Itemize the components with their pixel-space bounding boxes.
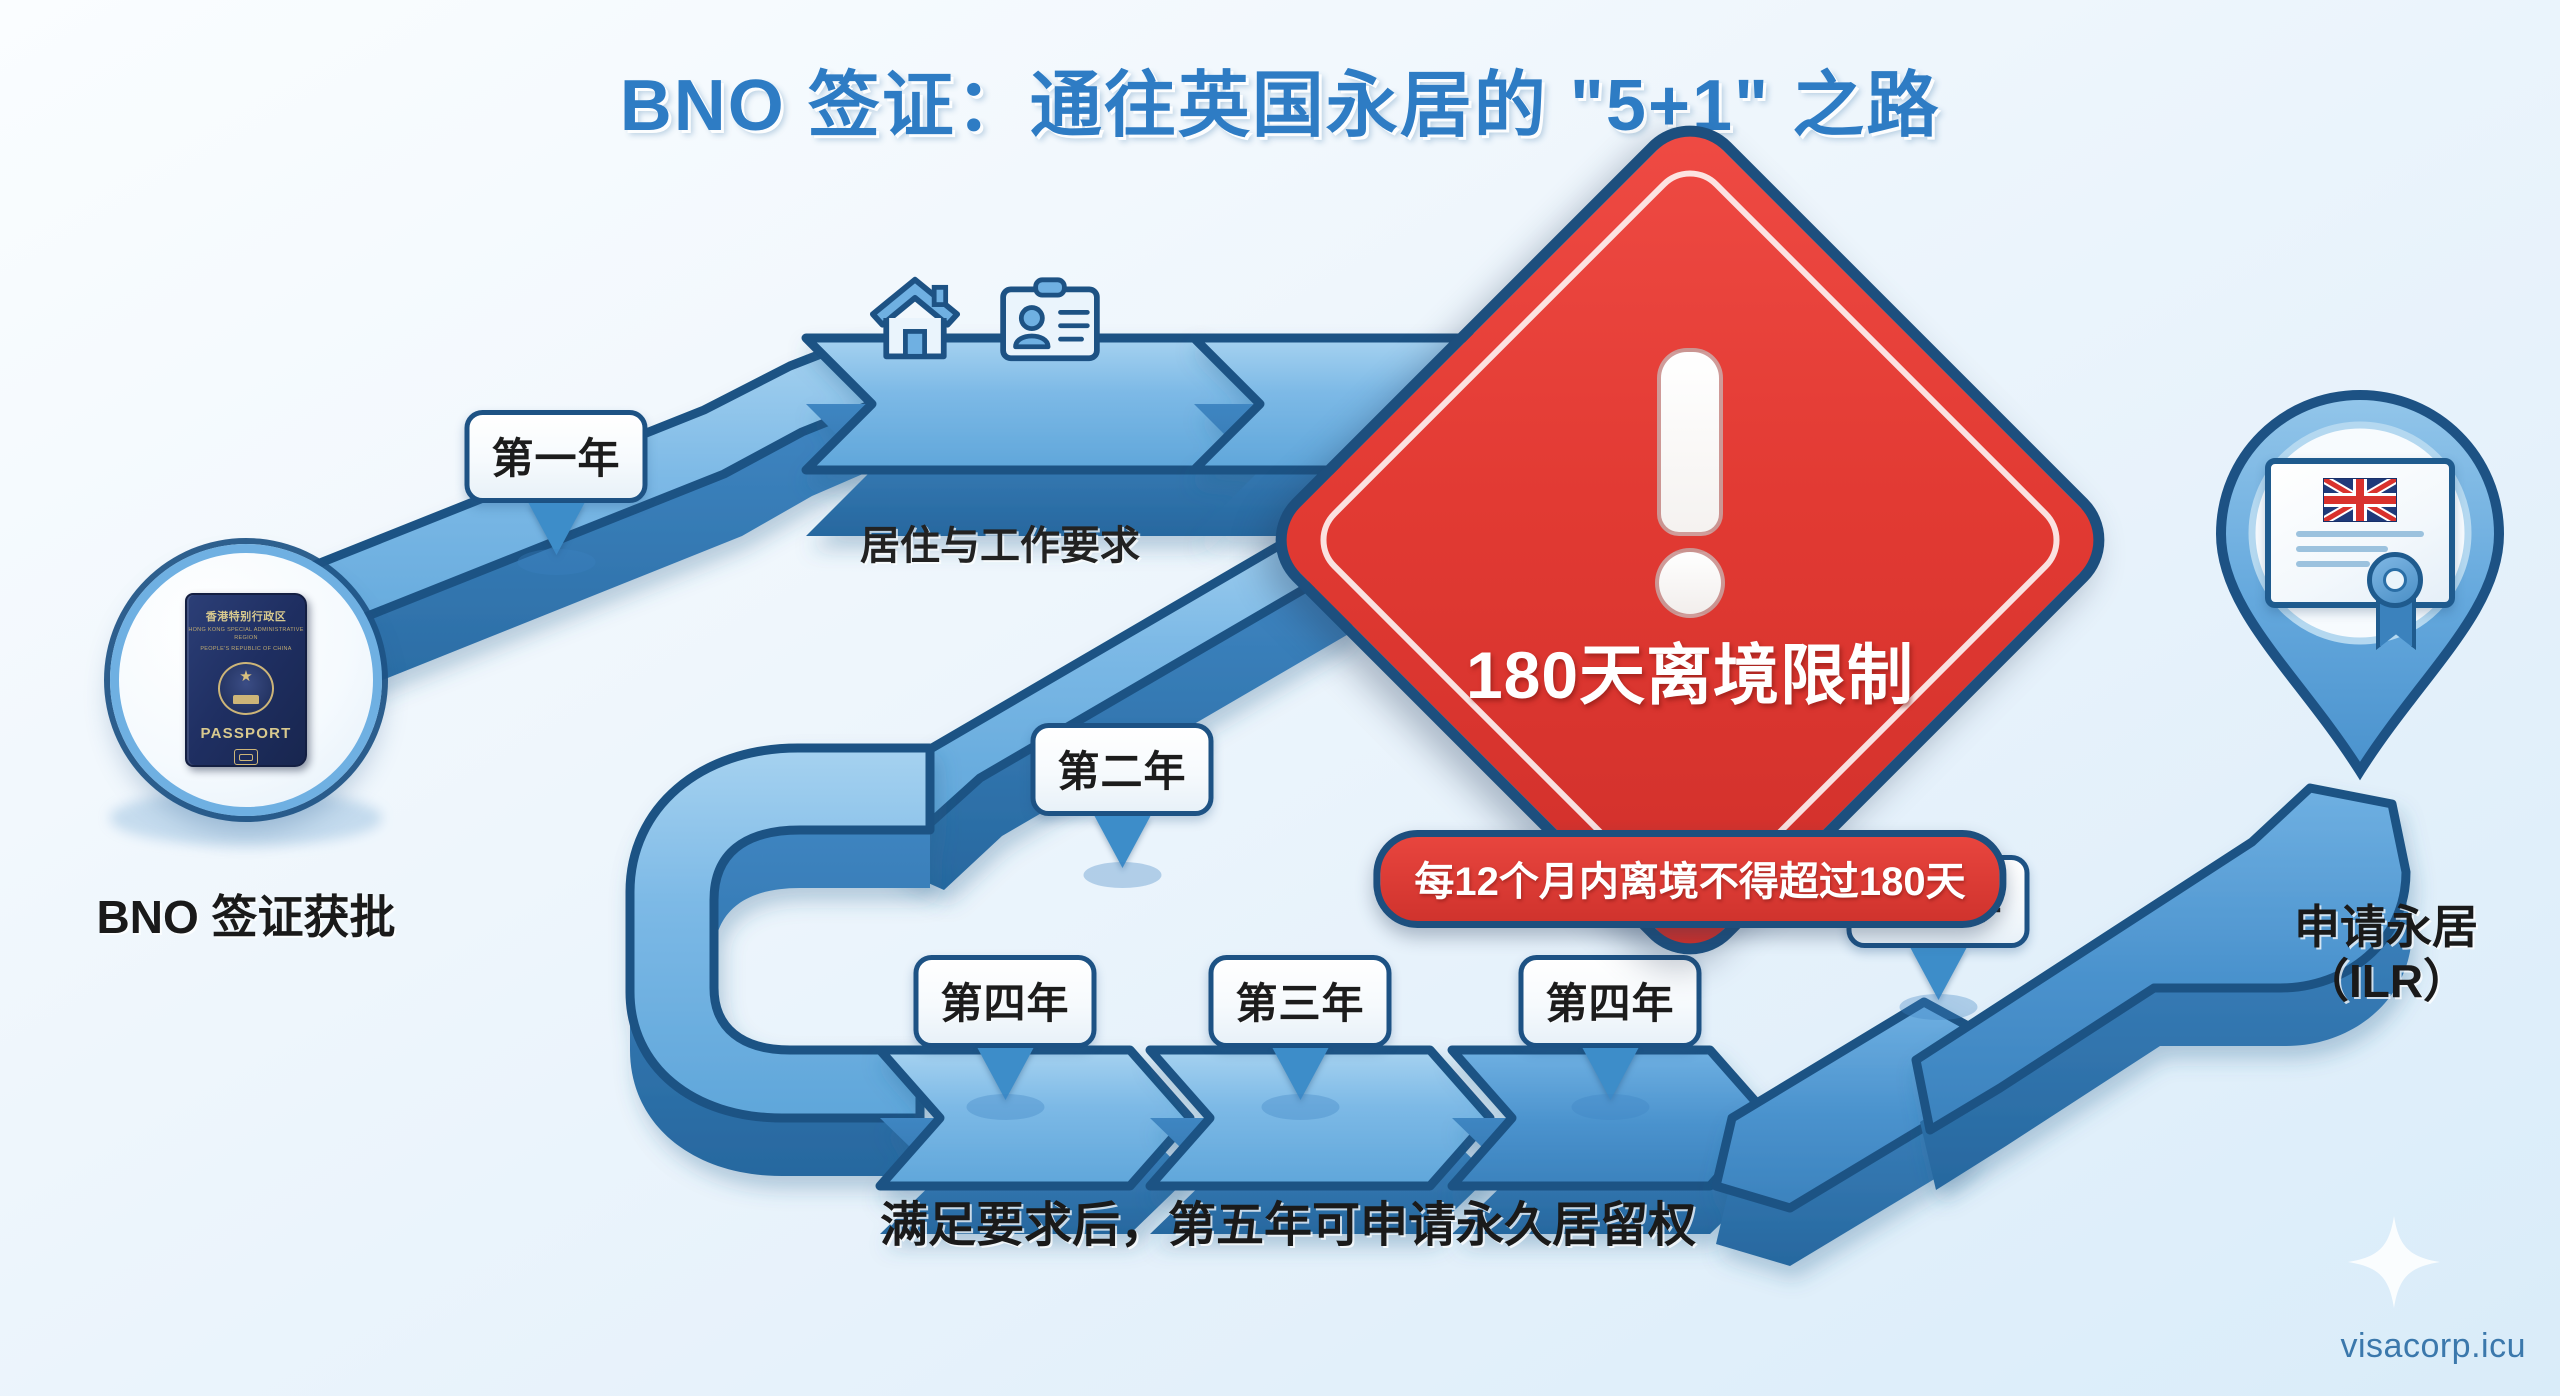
path-segment-uturn <box>630 748 930 1176</box>
pill-ground-shadow <box>1899 994 1977 1020</box>
year-marker-2[interactable]: 第二年 <box>1030 723 1213 816</box>
passport-country-en-1: HONG KONG SPECIAL ADMINISTRATIVE REGION <box>187 626 305 643</box>
infographic-canvas: BNO 签证：通往英国永居的 "5+1" 之路 <box>0 0 2560 1396</box>
uk-flag-icon <box>2323 478 2397 522</box>
passport-country-cn: 香港特别行政区 <box>206 608 287 624</box>
passport-chip-icon <box>234 749 258 765</box>
year-marker-label: 第三年 <box>1235 980 1364 1027</box>
pill-ground-shadow <box>1571 1094 1649 1120</box>
path-segment-chevron-1 <box>806 338 1262 536</box>
id-card-icon <box>997 276 1103 364</box>
pill-ground-shadow <box>1261 1094 1339 1120</box>
passport-node[interactable]: 香港特别行政区 HONG KONG SPECIAL ADMINISTRATIVE… <box>110 544 382 816</box>
passport-emblem-icon <box>218 662 274 715</box>
passport-icon: 香港特别行政区 HONG KONG SPECIAL ADMINISTRATIVE… <box>185 593 307 767</box>
pill-pointer-icon <box>1272 1048 1328 1100</box>
year-marker-1[interactable]: 第一年 <box>464 410 647 503</box>
pill-ground-shadow <box>1083 862 1161 888</box>
certificate-icon <box>2265 458 2455 608</box>
requirement-caption: 居住与工作要求 <box>860 513 1140 571</box>
bottom-caption: 满足要求后，第五年可申请永久居留权 <box>880 1185 1696 1255</box>
year-marker-label: 第二年 <box>1057 748 1186 795</box>
exit-limit-warning[interactable]: 180天离境限制 每12个月内离境不得超过180天 <box>1380 230 2000 850</box>
year-marker-4b[interactable]: 第四年 <box>1518 955 1701 1048</box>
end-node-caption-line1: 申请永居 <box>2294 900 2478 954</box>
warning-title: 180天离境限制 <box>1380 622 2000 718</box>
end-node-caption-line2: （ILR） <box>2294 954 2478 1008</box>
pill-pointer-icon <box>1582 1048 1638 1100</box>
start-node-caption: BNO 签证获批 <box>97 890 396 944</box>
warning-subtitle: 每12个月内离境不得超过180天 <box>1373 830 2006 928</box>
ilr-certificate-wrapper <box>2265 458 2455 608</box>
pill-pointer-icon <box>1910 948 1966 1000</box>
passport-label: PASSPORT <box>200 725 291 742</box>
house-icon <box>867 272 963 364</box>
exclamation-icon <box>1657 348 1723 536</box>
requirement-icons <box>867 272 1103 364</box>
year-marker-3[interactable]: 第三年 <box>1208 955 1391 1048</box>
pill-pointer-icon <box>1094 816 1150 868</box>
end-node-caption: 申请永居 （ILR） <box>2294 900 2478 1009</box>
year-marker-label: 第四年 <box>1545 980 1674 1027</box>
exclamation-dot-icon <box>1655 548 1725 618</box>
site-watermark: visacorp.icu <box>2340 1327 2526 1366</box>
warning-diamond-inner-border <box>1304 154 2076 926</box>
passport-country-en-2: PEOPLE'S REPUBLIC OF CHINA <box>200 645 291 653</box>
pill-ground-shadow <box>966 1094 1044 1120</box>
pill-pointer-icon <box>528 503 584 555</box>
year-marker-label: 第四年 <box>940 980 1069 1027</box>
pill-pointer-icon <box>977 1048 1033 1100</box>
year-marker-4a[interactable]: 第四年 <box>913 955 1096 1048</box>
year-marker-label: 第一年 <box>491 435 620 482</box>
certificate-seal-icon <box>2367 552 2423 608</box>
pill-ground-shadow <box>517 549 595 575</box>
